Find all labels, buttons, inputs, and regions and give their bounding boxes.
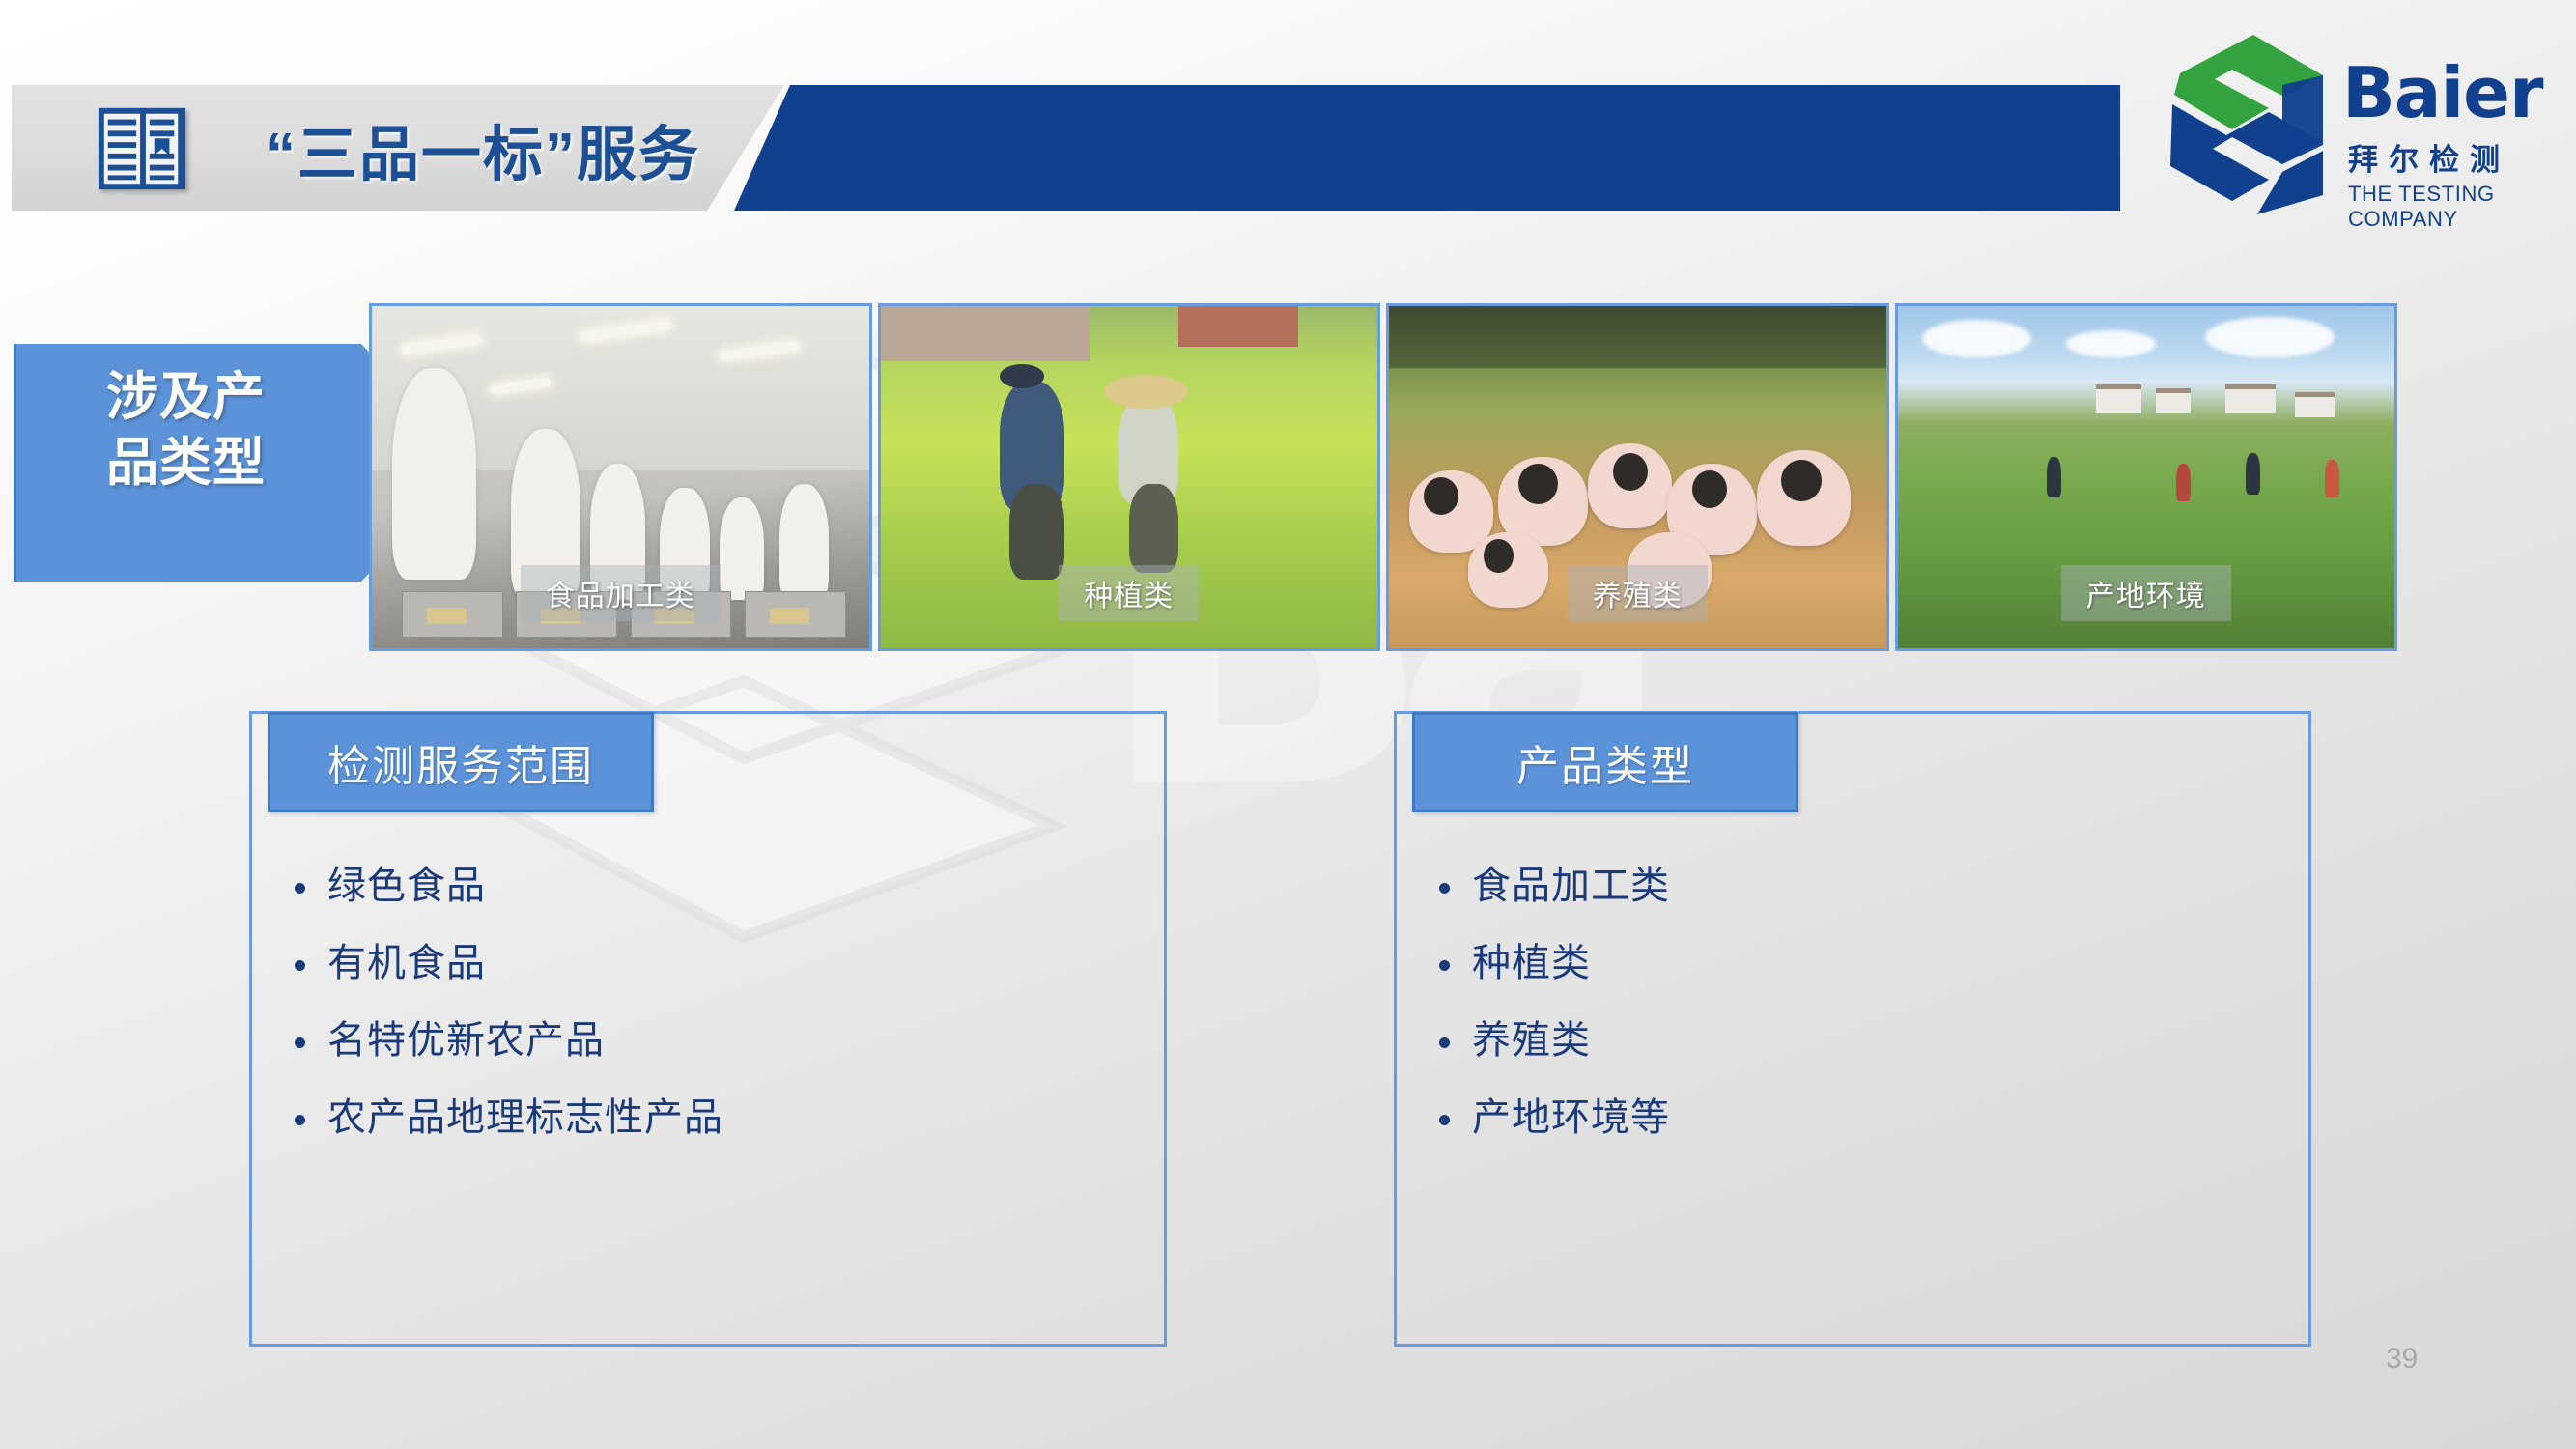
book-ledger-icon xyxy=(95,100,189,195)
panel-item-list: 食品加工类 种植类 养殖类 产地环境等 xyxy=(1435,867,2289,1176)
header-blue-banner xyxy=(734,85,2120,211)
brand-logo: Baier 拜尔检测 THE TESTING COMPANY xyxy=(2168,27,2574,230)
panel-title: 检测服务范围 xyxy=(327,731,594,793)
panel-item-list: 绿色食品 有机食品 名特优新农产品 农产品地理标志性产品 xyxy=(291,867,1145,1176)
callout-label: 涉及产 品类型 xyxy=(106,365,348,496)
stacked-layers-logo-icon xyxy=(2168,29,2333,217)
list-item: 有机食品 xyxy=(291,944,1145,982)
panel-header: 检测服务范围 xyxy=(268,712,654,812)
panel-product-types: 产品类型 食品加工类 种植类 养殖类 产地环境等 xyxy=(1394,711,2311,1347)
slide-canvas: B a “三品一标”服务 xyxy=(0,0,2576,1449)
brand-name-cn: 拜尔检测 xyxy=(2348,135,2510,179)
photo-card: 食品加工类 xyxy=(369,303,872,651)
list-item: 绿色食品 xyxy=(291,867,1145,905)
list-item: 名特优新农产品 xyxy=(291,1021,1145,1060)
panel-detection-service-scope: 检测服务范围 绿色食品 有机食品 名特优新农产品 农产品地理标志性产品 xyxy=(249,711,1167,1347)
list-item: 养殖类 xyxy=(1435,1021,2289,1060)
list-item: 食品加工类 xyxy=(1435,867,2289,905)
photo-strip: 食品加工类 种植类 xyxy=(369,303,2397,651)
brand-tagline: THE TESTING COMPANY xyxy=(2348,182,2574,232)
brand-name: Baier xyxy=(2342,58,2542,128)
panel-header: 产品类型 xyxy=(1412,712,1798,812)
photo-card: 种植类 xyxy=(878,303,1381,651)
page-title: “三品一标”服务 xyxy=(266,91,700,207)
photo-caption: 种植类 xyxy=(1059,565,1199,621)
callout-line-2: 品类型 xyxy=(106,431,348,497)
list-item: 产地环境等 xyxy=(1435,1098,2289,1137)
photo-card: 养殖类 xyxy=(1386,303,1889,651)
list-item: 农产品地理标志性产品 xyxy=(291,1098,1145,1137)
photo-caption: 养殖类 xyxy=(1568,565,1708,621)
list-item: 种植类 xyxy=(1435,944,2289,982)
photo-caption: 食品加工类 xyxy=(521,565,721,621)
page-number: 39 xyxy=(2386,1343,2418,1376)
photo-card: 产地环境 xyxy=(1895,303,2398,651)
panel-title: 产品类型 xyxy=(1516,731,1694,793)
photo-caption: 产地环境 xyxy=(2061,565,2231,621)
callout-line-1: 涉及产 xyxy=(106,365,348,431)
